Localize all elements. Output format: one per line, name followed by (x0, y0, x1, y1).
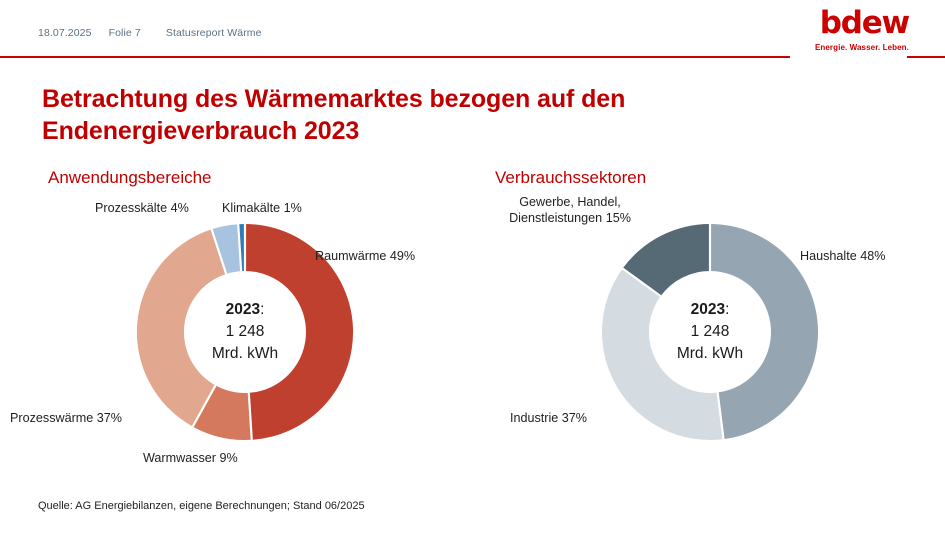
label-ghd-line2: Dienstleistungen 15% (480, 210, 660, 226)
chart-verbrauchssektoren: Verbrauchssektoren (460, 160, 930, 480)
label-ghd-line1: Gewerbe, Handel, (480, 194, 660, 210)
label-prozesswaerme: Prozesswärme 37% (10, 410, 122, 426)
donut-right: 2023: 1 248 Mrd. kWh (590, 212, 830, 452)
bdew-logo-wordmark: bdew (815, 8, 909, 39)
label-gewerbe-handel-dienstleistungen: Gewerbe, Handel, Dienstleistungen 15% (480, 194, 660, 227)
header-slide-no: Folie 7 (109, 27, 141, 39)
header-document: Statusreport Wärme (166, 27, 262, 39)
slide-title: Betrachtung des Wärmemarktes bezogen auf… (42, 83, 722, 147)
bdew-logo: bdew Energie. Wasser. Leben. (815, 8, 909, 52)
donut-slice-industrie (602, 269, 724, 440)
label-raumwaerme: Raumwärme 49% (315, 248, 415, 264)
header-meta: 18.07.2025 Folie 7 Statusreport Wärme (38, 27, 262, 39)
label-haushalte: Haushalte 48% (800, 248, 885, 264)
source-note: Quelle: AG Energiebilanzen, eigene Berec… (38, 500, 365, 512)
label-warmwasser: Warmwasser 9% (143, 450, 238, 466)
chart-right-title: Verbrauchssektoren (495, 168, 646, 188)
label-klimakaelte: Klimakälte 1% (222, 200, 302, 216)
chart-anwendungsbereiche: Anwendungsbereiche (0, 160, 470, 480)
slide-header: 18.07.2025 Folie 7 Statusreport Wärme bd… (0, 0, 945, 58)
charts-container: Anwendungsbereiche (0, 160, 945, 480)
header-rule-left (0, 56, 790, 58)
label-industrie: Industrie 37% (510, 410, 587, 426)
header-rule-right (907, 56, 945, 58)
chart-left-title: Anwendungsbereiche (48, 168, 212, 188)
label-prozesskaelte: Prozesskälte 4% (95, 200, 189, 216)
header-date: 18.07.2025 (38, 27, 92, 39)
donut-right-svg (590, 212, 830, 452)
bdew-logo-tagline: Energie. Wasser. Leben. (815, 43, 909, 52)
